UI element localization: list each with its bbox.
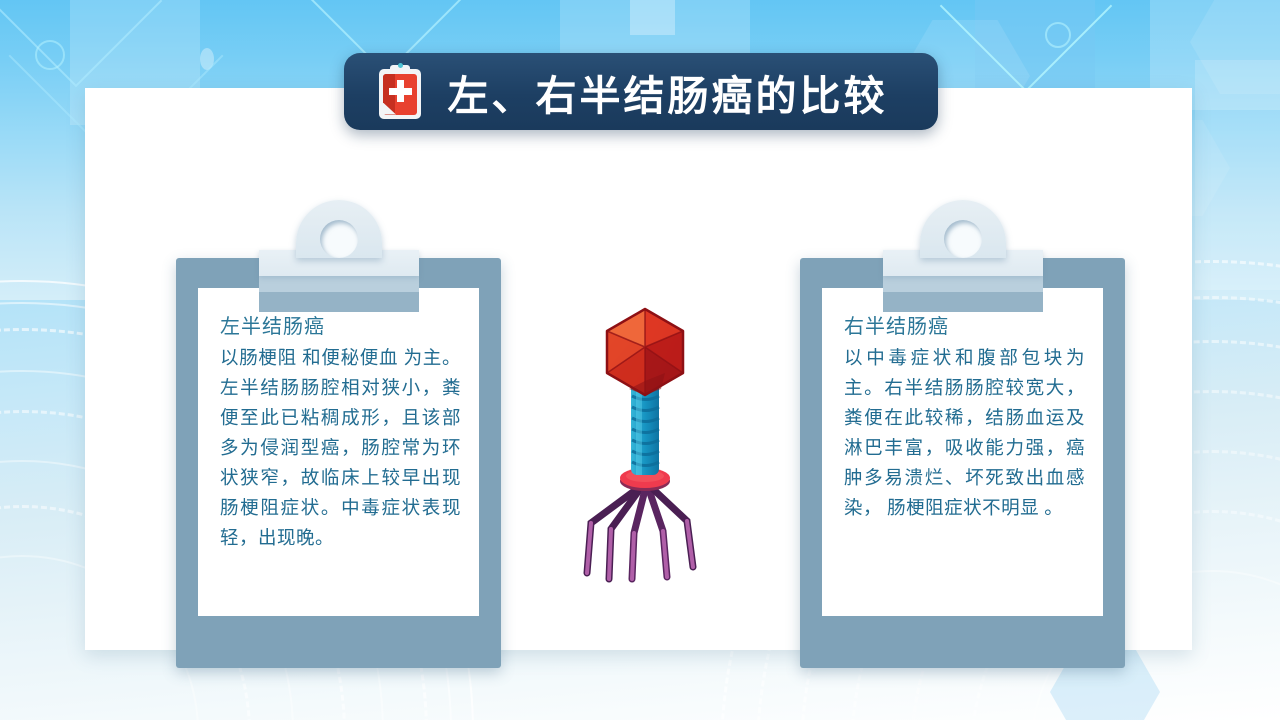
left-clipboard-text: 左半结肠癌 以肠梗阻 和便秘便血 为主。左半结肠肠腔相对狭小，粪便至此已粘稠成形… — [220, 310, 461, 555]
left-clipboard-card: 左半结肠癌 以肠梗阻 和便秘便血 为主。左半结肠肠腔相对狭小，粪便至此已粘稠成形… — [176, 258, 501, 668]
right-card-heading: 右半结肠癌 — [844, 310, 1085, 339]
right-card-body: 以中毒症状和腹部包块为主。右半结肠肠腔较宽大，粪便在此较稀，结肠血运及淋巴丰富，… — [844, 345, 1085, 525]
bg-circle-outline-1 — [35, 40, 65, 70]
slide-title-bar: 左、右半结肠癌的比较 — [344, 53, 938, 130]
clip-hole — [944, 220, 982, 258]
medical-clipboard-icon — [373, 63, 427, 121]
right-clipboard-clip — [883, 200, 1043, 305]
bg-circle-outline-2 — [1045, 22, 1071, 48]
bg-shape-rect-6 — [630, 0, 675, 35]
left-clipboard-clip — [259, 200, 419, 305]
right-clipboard-text: 右半结肠癌 以中毒症状和腹部包块为主。右半结肠肠腔较宽大，粪便在此较稀，结肠血运… — [844, 310, 1085, 525]
right-clipboard-card: 右半结肠癌 以中毒症状和腹部包块为主。右半结肠肠腔较宽大，粪便在此较稀，结肠血运… — [800, 258, 1125, 668]
left-card-heading: 左半结肠癌 — [220, 310, 461, 339]
slide-canvas: 左、右半结肠癌的比较 左半结肠癌 以肠梗阻 和便秘便血 为主。左半结肠肠腔相对狭… — [0, 0, 1280, 720]
left-card-body: 以肠梗阻 和便秘便血 为主。左半结肠肠腔相对狭小，粪便至此已粘稠成形，且该部多为… — [220, 345, 461, 555]
clip-hole — [320, 220, 358, 258]
bacteriophage-illustration — [575, 295, 715, 585]
page-title: 左、右半结肠癌的比较 — [427, 62, 938, 122]
